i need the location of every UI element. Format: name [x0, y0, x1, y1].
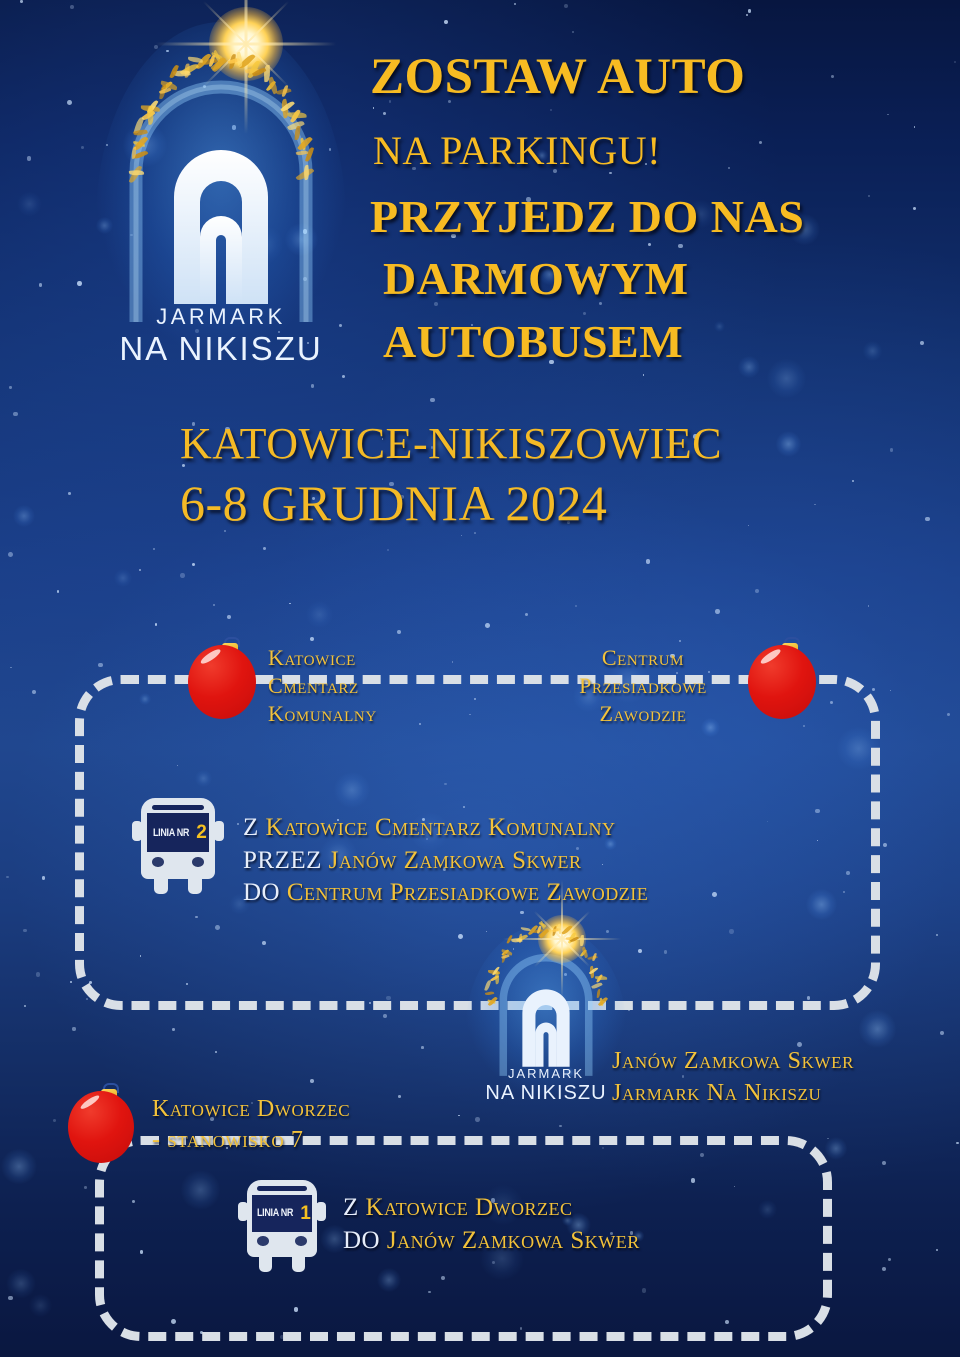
stop-label-line: Centrum: [548, 644, 738, 672]
jarmark-logo-midpoint: JARMARK NA NIKISZU: [466, 925, 626, 1101]
route-place: Centrum Przesiadkowe Zawodzie: [287, 879, 648, 906]
route-description-row: DO Centrum Przesiadkowe Zawodzie: [243, 877, 648, 910]
logo-name-line1: JARMARK: [96, 304, 346, 330]
route-place: Janów Zamkowa Skwer: [329, 847, 582, 874]
stop-label-line: Katowice: [268, 644, 498, 672]
bus-line-number: 2: [196, 823, 207, 842]
logo-name-line1: JARMARK: [466, 1066, 626, 1081]
stop-label-katowice-cmentarz: Katowice Cmentarz Komunalny: [268, 644, 498, 728]
bus-headlight-left: [257, 1236, 268, 1246]
bus-destination-sign: LINIA NR 2: [147, 813, 210, 851]
headline-line-5: AUTOBUSEM: [383, 315, 683, 368]
bus-wheel-left: [259, 1252, 272, 1272]
event-dates: 6-8 GRUDNIA 2024: [180, 474, 607, 532]
route-description-line-1: Z Katowice Dworzec DO Janów Zamkowa Skwe…: [343, 1192, 640, 1257]
stop-label-janow-zamkowa: Janów Zamkowa Skwer Jarmark Na Nikiszu: [612, 1046, 942, 1109]
bauble-ornament-icon-cmentarz: [188, 637, 256, 719]
route-prep: PRZEZ: [243, 847, 322, 874]
headline-line-3: PRZYJEDZ DO NAS: [370, 190, 804, 243]
bus-line-number: 1: [300, 1204, 311, 1223]
event-city: KATOWICE-NIKISZOWIEC: [180, 418, 722, 469]
bus-roof-stripe: [152, 805, 204, 810]
bus-wheel-left: [154, 873, 168, 894]
route-prep: DO: [243, 879, 280, 906]
logo-name-line2: NA NIKISZU: [466, 1082, 626, 1105]
stop-label-line: Komunalny: [268, 700, 498, 728]
poster-root: JARMARK NA NIKISZU ZOSTAW AUTO NA PARKIN…: [0, 0, 960, 1357]
bus-destination-sign: LINIA NR 1: [252, 1195, 312, 1232]
bauble-ornament-icon-dworzec: [68, 1083, 134, 1163]
bus-wheel-right: [188, 873, 202, 894]
jarmark-logo-main: JARMARK NA NIKISZU: [96, 22, 346, 372]
route-place: Katowice Dworzec: [366, 1194, 573, 1221]
route-prep: Z: [243, 814, 259, 841]
headline-line-1: ZOSTAW AUTO: [370, 48, 745, 106]
stop-label-line: Jarmark Na Nikiszu: [612, 1078, 942, 1110]
bus-headlight-right: [295, 1236, 306, 1246]
stop-label-line: Zawodzie: [548, 700, 738, 728]
bus-mirror-right: [214, 821, 224, 841]
stop-label-line: - stanowisko 7: [152, 1125, 482, 1156]
stop-label-katowice-dworzec: Katowice Dworzec - stanowisko 7: [152, 1094, 482, 1156]
route-description-row: Z Katowice Cmentarz Komunalny: [243, 812, 648, 845]
route-description-line-2: Z Katowice Cmentarz Komunalny PRZEZ Janó…: [243, 812, 648, 910]
bus-wheel-right: [292, 1252, 305, 1272]
bus-roof-stripe: [257, 1186, 306, 1191]
bus-mirror-right: [316, 1202, 326, 1221]
headline-line-2: NA PARKINGU!: [373, 127, 661, 174]
bus-line-label: LINIA NR: [257, 1207, 293, 1219]
route-prep: Z: [343, 1194, 359, 1221]
bus-line-label: LINIA NR: [153, 827, 189, 839]
stop-label-centrum-zawodzie: Centrum Przesiadkowe Zawodzie: [548, 644, 738, 728]
stop-label-line: Cmentarz: [268, 672, 498, 700]
route-prep: DO: [343, 1227, 380, 1254]
logo-name-line2: NA NIKISZU: [96, 330, 346, 368]
route-place: Janów Zamkowa Skwer: [387, 1227, 640, 1254]
headline-line-4: DARMOWYM: [383, 252, 689, 305]
bauble-ornament-icon-zawodzie: [748, 637, 816, 719]
bus-headlight-right: [192, 857, 204, 868]
stop-label-line: Przesiadkowe: [548, 672, 738, 700]
bus-icon-line-1: LINIA NR 1: [238, 1180, 326, 1272]
stop-label-line: Katowice Dworzec: [152, 1094, 482, 1125]
stop-label-line: Janów Zamkowa Skwer: [612, 1046, 942, 1078]
bus-icon-line-2: LINIA NR 2: [132, 798, 224, 894]
route-place: Katowice Cmentarz Komunalny: [266, 814, 616, 841]
route-description-row: DO Janów Zamkowa Skwer: [343, 1225, 640, 1258]
route-description-row: Z Katowice Dworzec: [343, 1192, 640, 1225]
route-description-row: PRZEZ Janów Zamkowa Skwer: [243, 845, 648, 878]
